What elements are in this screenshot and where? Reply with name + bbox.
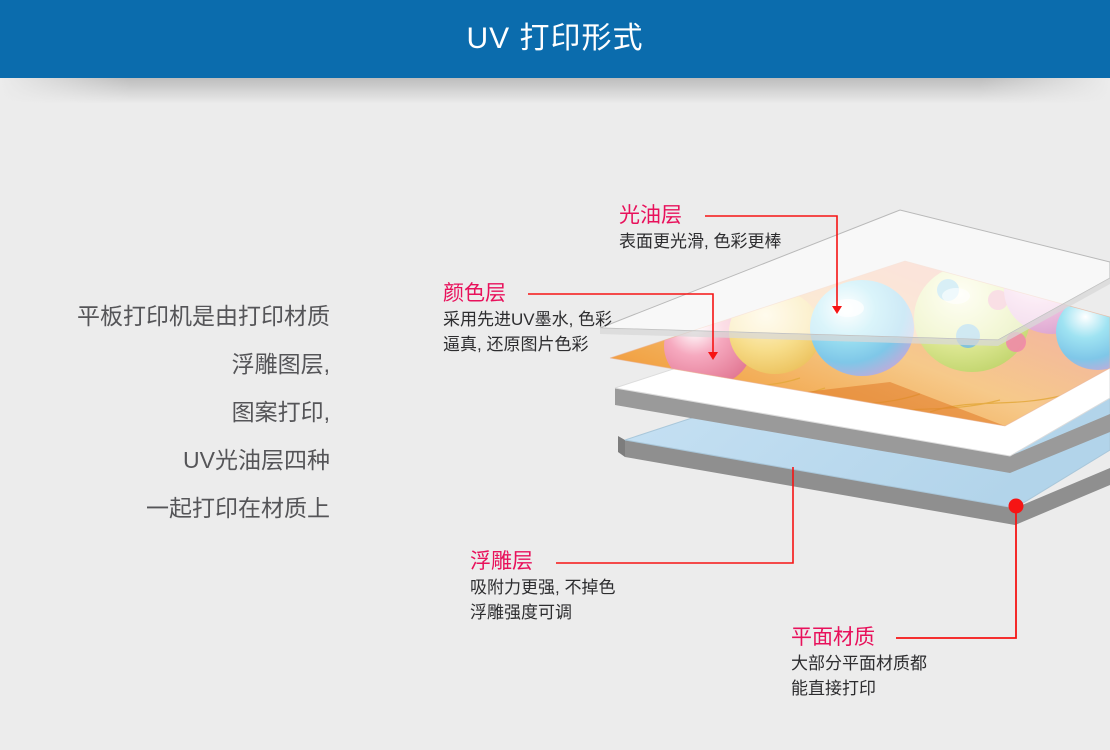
header-shadow-fade-right xyxy=(980,78,1110,104)
header-drop-shadow xyxy=(0,78,1110,104)
description-line: 图案打印, xyxy=(40,388,330,436)
header-shadow-fade-left xyxy=(0,78,130,104)
callout-material-line: 能直接打印 xyxy=(791,676,927,701)
callout-material-line: 大部分平面材质都 xyxy=(791,651,927,676)
callout-emboss-title: 浮雕层 xyxy=(470,549,615,575)
description-line: 浮雕图层, xyxy=(40,340,330,388)
callout-color: 颜色层 采用先进UV墨水, 色彩 逼真, 还原图片色彩 xyxy=(443,281,612,357)
description-line: UV光油层四种 xyxy=(40,436,330,484)
callout-varnish: 光油层 表面更光滑, 色彩更棒 xyxy=(619,203,781,254)
left-description-block: 平板打印机是由打印材质 浮雕图层, 图案打印, UV光油层四种 一起打印在材质上 xyxy=(40,292,330,532)
header-banner: UV 打印形式 xyxy=(0,0,1110,78)
callout-material: 平面材质 大部分平面材质都 能直接打印 xyxy=(791,625,927,701)
description-line: 平板打印机是由打印材质 xyxy=(40,292,330,340)
callout-emboss-line: 浮雕强度可调 xyxy=(470,600,615,625)
callout-emboss-line: 吸附力更强, 不掉色 xyxy=(470,575,615,600)
callout-color-title: 颜色层 xyxy=(443,281,612,307)
description-line: 一起打印在材质上 xyxy=(40,484,330,532)
callout-color-line: 逼真, 还原图片色彩 xyxy=(443,332,612,357)
callout-varnish-line: 表面更光滑, 色彩更棒 xyxy=(619,229,781,254)
callout-emboss: 浮雕层 吸附力更强, 不掉色 浮雕强度可调 xyxy=(470,549,615,625)
page-title: UV 打印形式 xyxy=(466,24,643,54)
callout-varnish-title: 光油层 xyxy=(619,203,781,229)
callout-color-line: 采用先进UV墨水, 色彩 xyxy=(443,307,612,332)
callout-material-title: 平面材质 xyxy=(791,625,927,651)
